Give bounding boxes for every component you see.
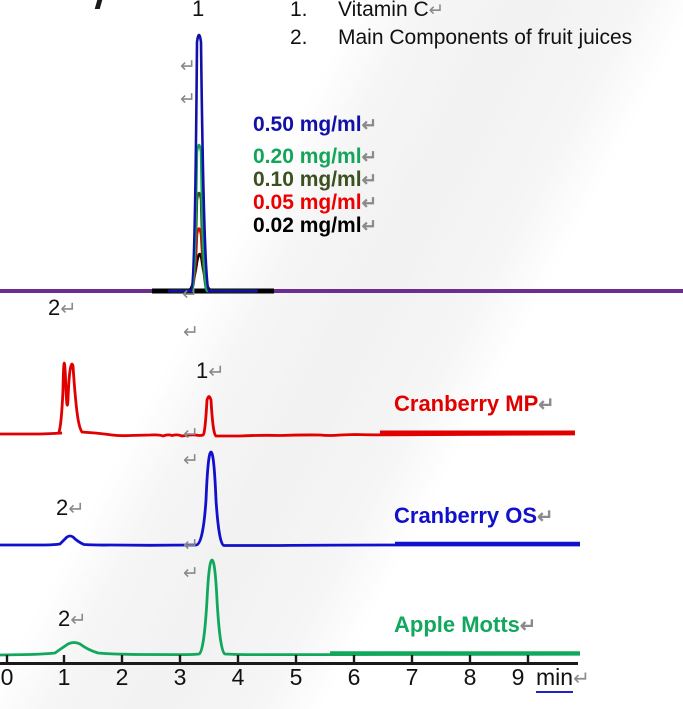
pilcrow-icon: ↵ <box>362 215 377 236</box>
pilcrow-icon: ↵ <box>182 283 198 306</box>
concentration-value: 0.05 mg/ml <box>253 191 362 214</box>
concentration-entry: 0.02 mg/ml↵ <box>253 215 377 236</box>
x-tick-label-9-text: 9 <box>512 664 525 690</box>
x-tick-label-2: 2 <box>109 664 135 691</box>
pilcrow-icon: ↵ <box>362 169 377 190</box>
trace-calibration-0-05 <box>168 229 258 292</box>
peak-label-text: 1 <box>196 358 208 383</box>
concentration-value: 0.50 mg/ml <box>253 113 362 136</box>
x-tick-label-6: 6 <box>341 664 367 691</box>
x-axis-ticks <box>7 655 528 663</box>
trace-cranberry-os <box>0 452 580 546</box>
pilcrow-icon: ↵ <box>183 449 199 472</box>
pilcrow-icon: ↵ <box>208 361 224 383</box>
concentration-value: 0.02 mg/ml <box>253 214 362 237</box>
chromatogram-plot <box>0 0 683 709</box>
sample-name-text: Apple Motts <box>394 612 520 637</box>
calibration-concentration-legend: 0.50 mg/ml↵ 0.20 mg/ml↵ 0.10 mg/ml↵ 0.05… <box>253 114 377 238</box>
concentration-entry: 0.10 mg/ml↵ <box>253 169 377 190</box>
concentration-value: 0.10 mg/ml <box>253 168 362 191</box>
pilcrow-icon: ↵ <box>537 506 553 528</box>
pilcrow-icon: ↵ <box>362 192 377 213</box>
trace-calibration-0-02 <box>152 254 274 291</box>
peak-label-mp-2: 2↵ <box>48 295 76 321</box>
pilcrow-icon: ↵ <box>183 534 199 557</box>
x-tick-label-5: 5 <box>283 664 309 691</box>
x-tick-label-7: 7 <box>399 664 425 691</box>
figure-canvas: 1.Vitamin C↵ 2.Main Components of fruit … <box>0 0 683 709</box>
x-tick-label-0: 0 <box>0 664 20 691</box>
pilcrow-icon: ↵ <box>70 609 86 631</box>
peak-label-text: 2 <box>56 495 68 520</box>
trace-calibration-0-20 <box>170 145 256 291</box>
x-tick-label-4: 4 <box>225 664 251 691</box>
pilcrow-icon: ↵ <box>68 498 84 520</box>
peak-label-calibration-1: 1 <box>192 0 204 22</box>
trace-calibration-0-10 <box>170 193 256 291</box>
x-tick-label-1: 1 <box>51 664 77 691</box>
pilcrow-icon: ↵ <box>362 146 377 167</box>
sample-label-cranberry-mp: Cranberry MP↵ <box>394 391 555 417</box>
concentration-entry: 0.50 mg/ml↵ <box>253 114 377 135</box>
x-tick-label-8: 8 <box>457 664 483 691</box>
trace-apple-motts <box>0 560 580 655</box>
peak-label-os-2: 2↵ <box>56 495 84 521</box>
pilcrow-icon: ↵ <box>183 321 199 344</box>
pilcrow-icon: ↵ <box>180 55 196 78</box>
pilcrow-icon: ↵ <box>183 562 199 585</box>
x-axis-unit-text: min <box>536 664 573 693</box>
pilcrow-icon: ↵ <box>538 394 554 416</box>
x-tick-label-9: 9 <box>505 664 531 691</box>
peak-label-apple-2: 2↵ <box>58 606 86 632</box>
pilcrow-icon: ↵ <box>183 423 199 446</box>
concentration-entry: 0.05 mg/ml↵ <box>253 192 377 213</box>
x-tick-label-3: 3 <box>167 664 193 691</box>
sample-label-apple-motts: Apple Motts↵ <box>394 612 536 638</box>
pilcrow-icon: ↵ <box>520 615 536 637</box>
peak-label-mp-1: 1↵ <box>196 358 224 384</box>
pilcrow-icon: ↵ <box>180 88 196 111</box>
peak-label-text: 2 <box>58 606 70 631</box>
peak-label-text: 2 <box>48 295 60 320</box>
peak-label-text: 1 <box>192 0 204 21</box>
concentration-entry: 0.20 mg/ml↵ <box>253 146 377 167</box>
sample-label-cranberry-os: Cranberry OS↵ <box>394 503 553 529</box>
concentration-value: 0.20 mg/ml <box>253 145 362 168</box>
x-axis-unit: min↵ <box>536 664 590 691</box>
pilcrow-icon: ↵ <box>60 298 76 320</box>
pilcrow-icon: ↵ <box>573 668 590 690</box>
sample-name-text: Cranberry OS <box>394 503 537 528</box>
pilcrow-icon: ↵ <box>362 114 377 135</box>
sample-name-text: Cranberry MP <box>394 391 538 416</box>
